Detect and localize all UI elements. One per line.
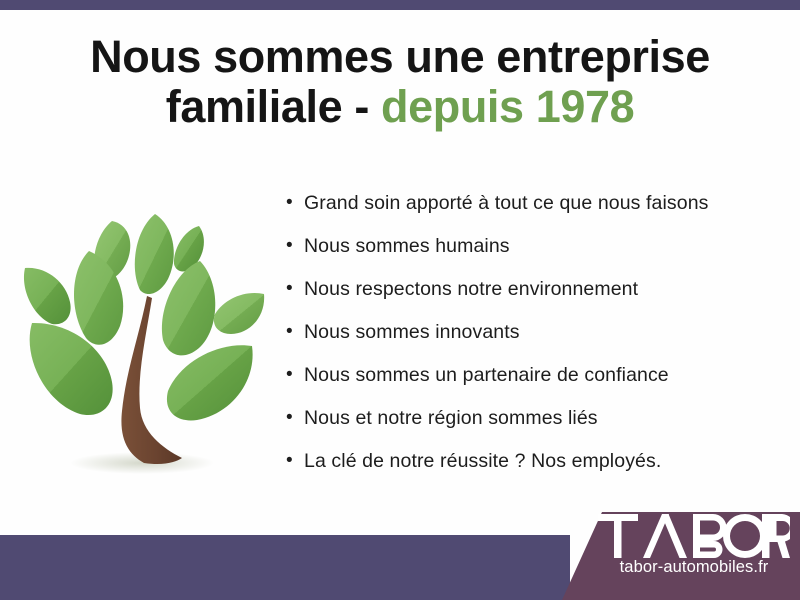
brand-logo[interactable]: tabor-automobiles.fr xyxy=(598,514,790,586)
list-item: • La clé de notre réussite ? Nos employé… xyxy=(286,448,786,491)
tabor-wordmark-icon xyxy=(598,514,790,558)
bullet-dot-icon: • xyxy=(286,276,304,302)
list-item: • Nous respectons notre environnement xyxy=(286,276,786,319)
tree-leaf-9 xyxy=(167,345,253,420)
tree-illustration xyxy=(16,186,274,482)
list-item-label: Nous et notre région sommes liés xyxy=(304,405,598,431)
top-accent-bar xyxy=(0,0,800,10)
list-item: • Nous sommes un partenaire de confiance xyxy=(286,362,786,405)
bullet-dot-icon: • xyxy=(286,362,304,388)
list-item-label: Nous sommes un partenaire de confiance xyxy=(304,362,669,388)
bullet-dot-icon: • xyxy=(286,190,304,216)
list-item: • Nous sommes innovants xyxy=(286,319,786,362)
list-item: • Grand soin apporté à tout ce que nous … xyxy=(286,190,786,233)
list-item-label: Nous sommes innovants xyxy=(304,319,520,345)
list-item-label: La clé de notre réussite ? Nos employés. xyxy=(304,448,661,474)
title-line-2-plain: familiale xyxy=(166,81,343,132)
footer: tabor-automobiles.fr xyxy=(0,500,800,600)
tree-leaf-5 xyxy=(24,268,71,324)
bullet-dot-icon: • xyxy=(286,405,304,431)
footer-bar-left xyxy=(0,535,570,600)
title-line-1: Nous sommes une entreprise xyxy=(0,34,800,80)
tree-leaf-2 xyxy=(135,214,174,294)
bullet-dot-icon: • xyxy=(286,233,304,259)
list-item-label: Grand soin apporté à tout ce que nous fa… xyxy=(304,190,709,216)
title-accent-text: depuis 1978 xyxy=(381,81,634,132)
list-item-label: Nous sommes humains xyxy=(304,233,510,259)
list-item: • Nous sommes humains xyxy=(286,233,786,276)
list-item-label: Nous respectons notre environnement xyxy=(304,276,638,302)
tree-leaf-7 xyxy=(214,293,264,334)
title-line-2: familiale - depuis 1978 xyxy=(0,84,800,130)
bullet-list: • Grand soin apporté à tout ce que nous … xyxy=(286,190,786,491)
page-title: Nous sommes une entreprise familiale - d… xyxy=(0,34,800,130)
logo-url-text[interactable]: tabor-automobiles.fr xyxy=(598,558,790,577)
bullet-dot-icon: • xyxy=(286,319,304,345)
title-dash: - xyxy=(342,81,381,132)
tree-leaf-6 xyxy=(162,261,215,355)
bullet-dot-icon: • xyxy=(286,448,304,474)
slide-canvas: Nous sommes une entreprise familiale - d… xyxy=(0,0,800,600)
list-item: • Nous et notre région sommes liés xyxy=(286,405,786,448)
